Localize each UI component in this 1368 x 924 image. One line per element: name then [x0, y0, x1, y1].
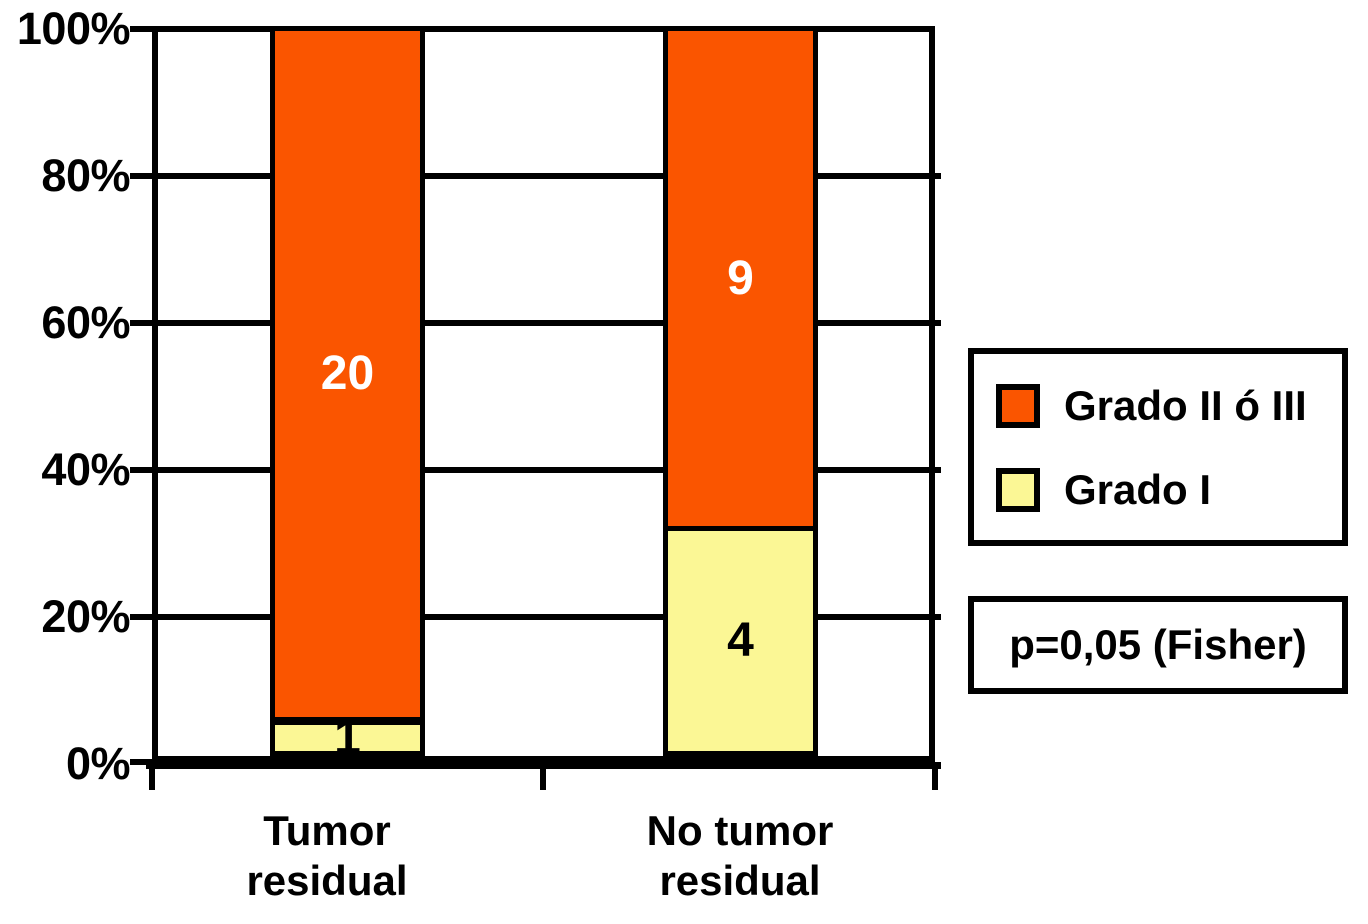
bar-stack-tumor-residual[interactable]: 20 1 — [270, 26, 425, 756]
y-tick-mark-60 — [130, 320, 152, 326]
bar-value-label: 9 — [727, 255, 754, 303]
y-tick-mark-20 — [130, 614, 152, 620]
x-tick-mark-left — [149, 762, 155, 790]
bar-segment-grado-ii-iii[interactable]: 9 — [663, 26, 818, 531]
y-tick-mark-40 — [130, 467, 152, 473]
bar-segment-grado-i[interactable]: 4 — [663, 526, 818, 756]
legend: Grado II ó III Grado I — [968, 348, 1348, 546]
x-category-label-no-tumor-residual: No tumor residual — [590, 806, 890, 905]
legend-item-grado-i[interactable]: Grado I — [996, 466, 1211, 514]
y-tick-mark-100 — [130, 26, 152, 32]
plot-area: 20 1 9 4 — [152, 26, 935, 762]
y-tick-label-0: 0% — [66, 738, 130, 790]
statistics-annotation-box: p=0,05 (Fisher) — [968, 596, 1348, 694]
legend-swatch-icon — [996, 384, 1040, 428]
chart-figure: 100% 80% 60% 40% 20% 0% 20 1 9 4 — [0, 0, 1368, 924]
legend-swatch-icon — [996, 468, 1040, 512]
x-tick-mark-middle — [540, 762, 546, 790]
legend-item-label: Grado I — [1064, 466, 1211, 514]
bar-segment-grado-i[interactable]: 1 — [270, 720, 425, 756]
bar-value-label: 4 — [727, 617, 754, 665]
x-category-line2: residual — [177, 856, 477, 906]
legend-item-label: Grado II ó III — [1064, 382, 1307, 430]
legend-item-grado-ii-iii[interactable]: Grado II ó III — [996, 382, 1307, 430]
y-tick-label-20: 20% — [41, 591, 130, 643]
x-tick-mark-right — [932, 762, 938, 790]
p-value-text: p=0,05 (Fisher) — [1009, 621, 1307, 669]
x-category-label-tumor-residual: Tumor residual — [177, 806, 477, 905]
x-category-line1: No tumor — [590, 806, 890, 856]
y-tick-mark-80 — [130, 173, 152, 179]
y-tick-label-60: 60% — [41, 297, 130, 349]
bar-stack-no-tumor-residual[interactable]: 9 4 — [663, 26, 818, 756]
y-tick-label-80: 80% — [41, 150, 130, 202]
y-tick-label-40: 40% — [41, 444, 130, 496]
x-category-line2: residual — [590, 856, 890, 906]
x-category-line1: Tumor — [177, 806, 477, 856]
bar-value-label: 1 — [334, 714, 361, 762]
bar-segment-grado-ii-iii[interactable]: 20 — [270, 26, 425, 722]
bar-value-label: 20 — [321, 350, 374, 398]
y-tick-label-100: 100% — [17, 3, 130, 55]
